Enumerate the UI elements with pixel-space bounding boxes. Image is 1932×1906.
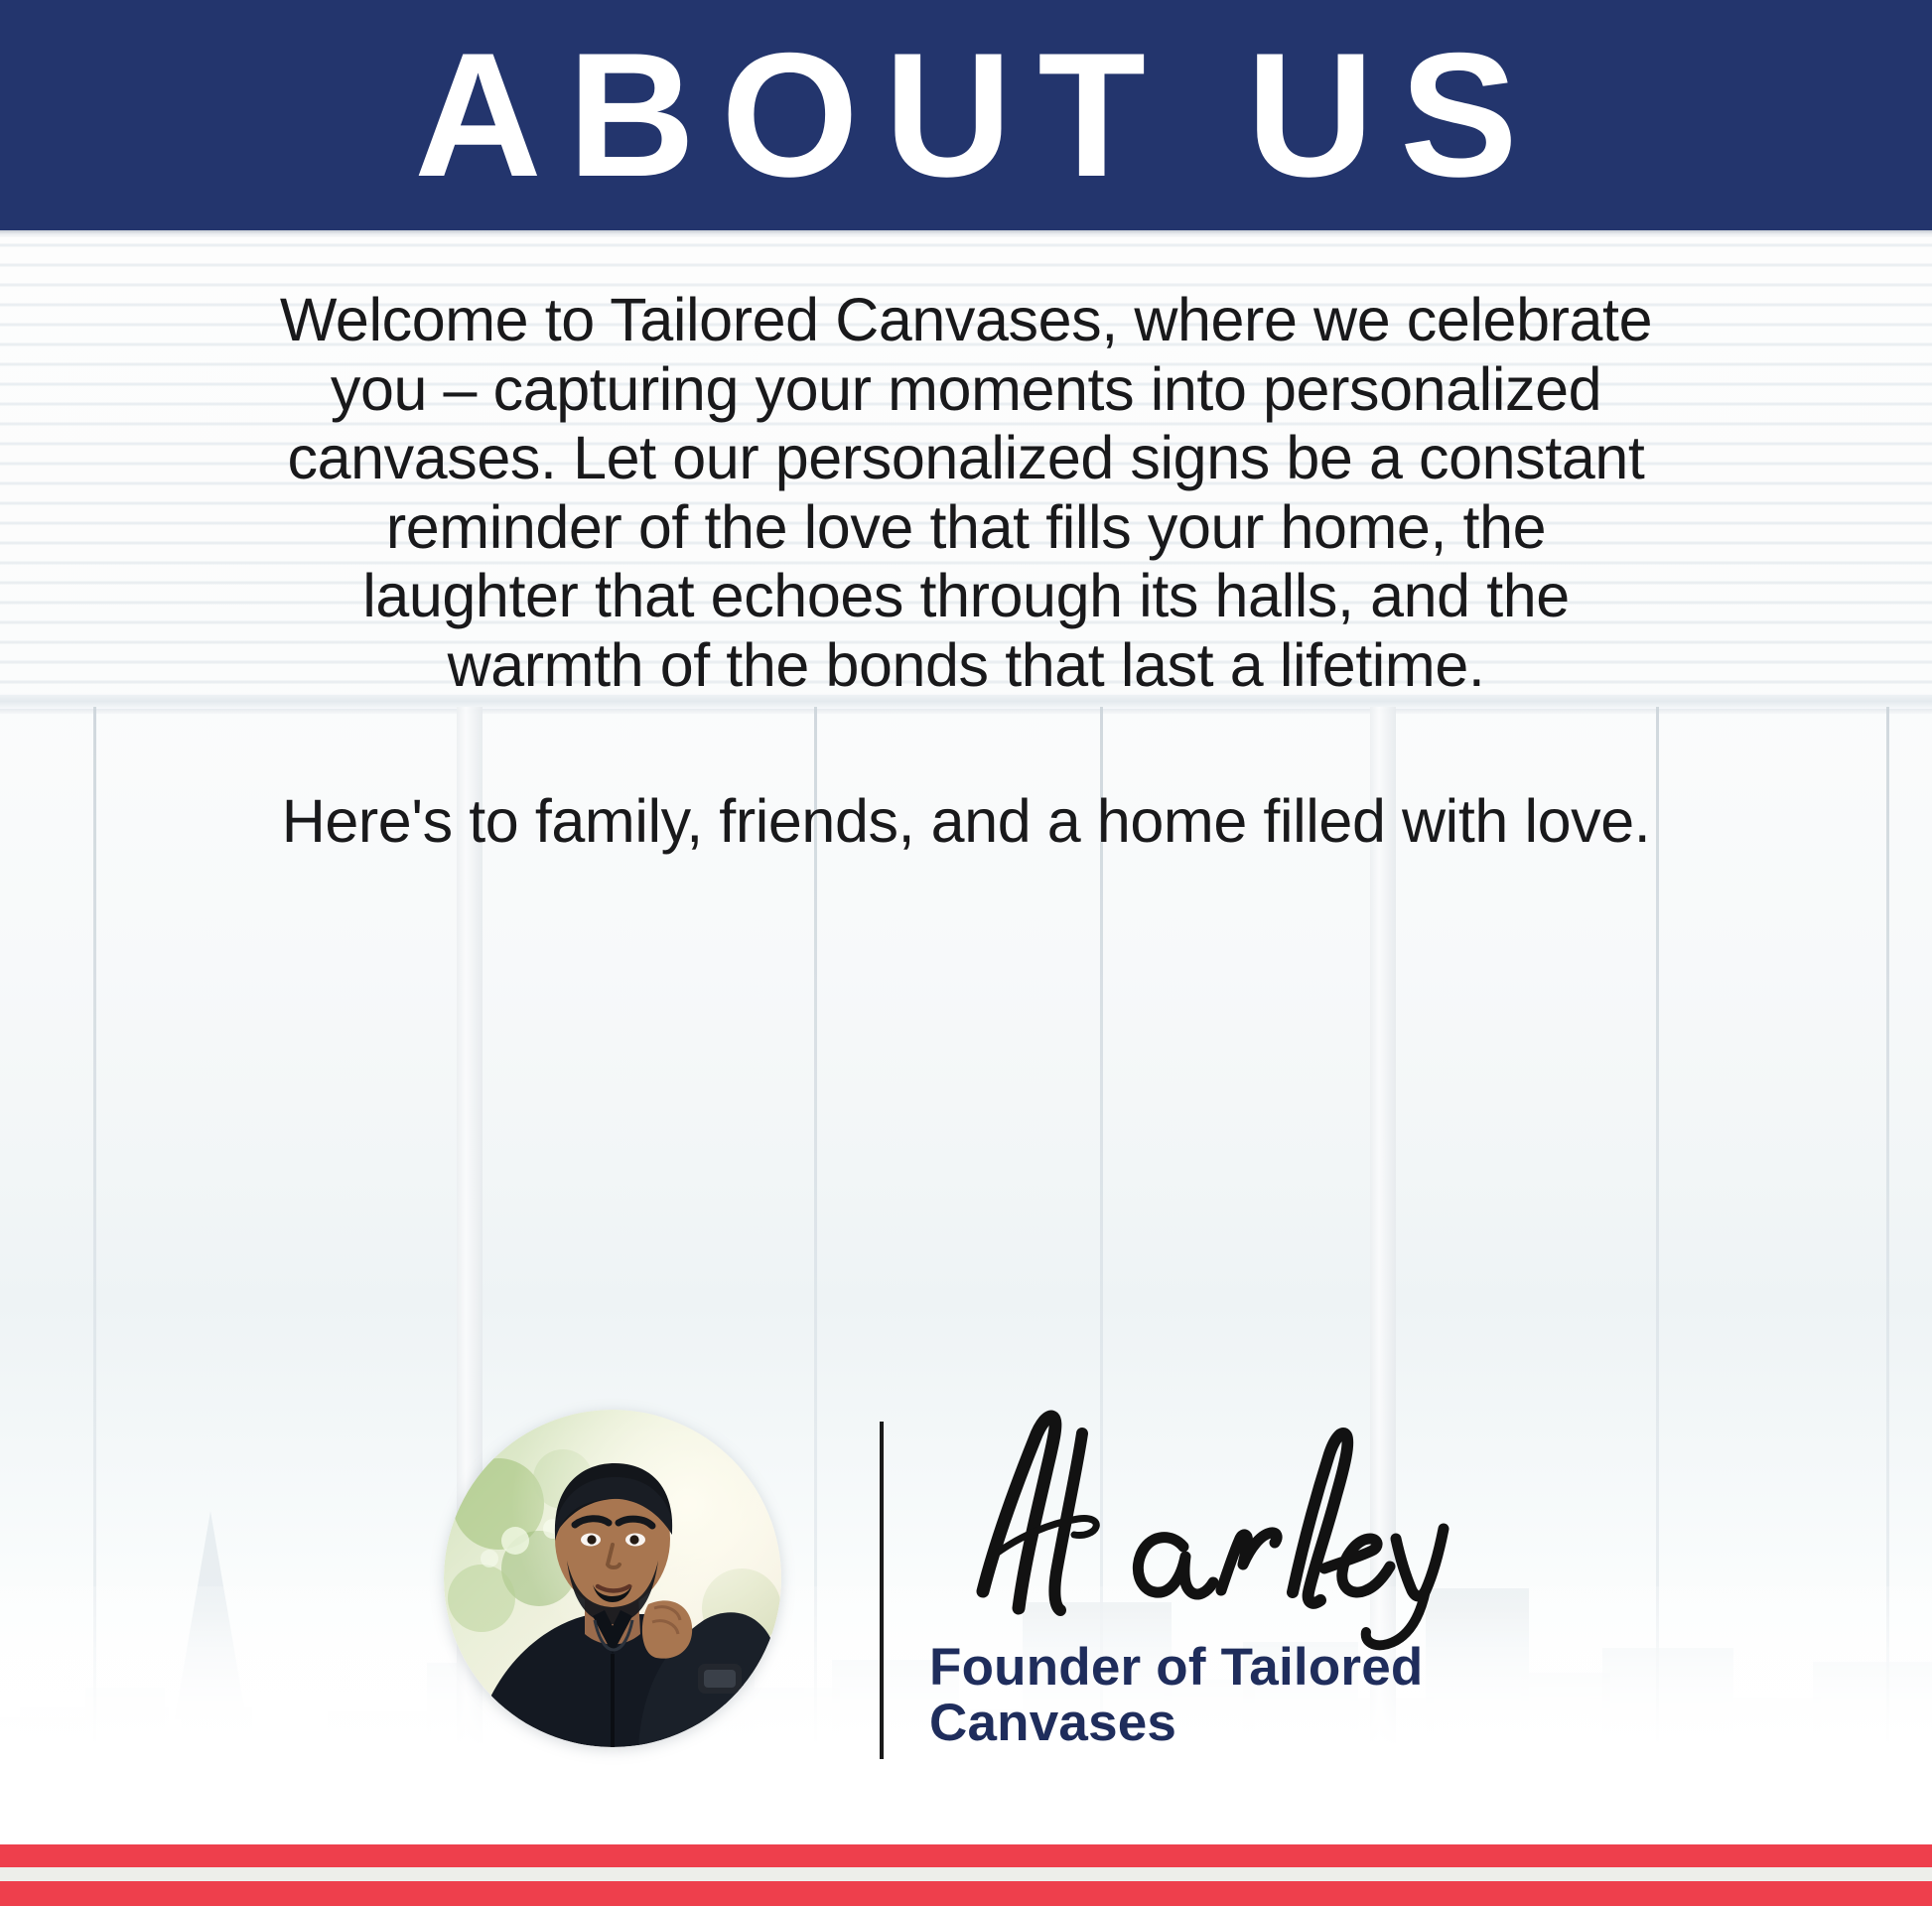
- about-us-poster: ABOUT US Welcome to Tailored Canvases, w…: [0, 0, 1932, 1906]
- page-title: ABOUT US: [414, 27, 1544, 204]
- footer-bar-bottom: [0, 1881, 1932, 1906]
- founder-role-line-1: Founder of Tailored: [929, 1640, 1624, 1696]
- about-paragraph-2: Here's to family, friends, and a home fi…: [271, 787, 1661, 857]
- avatar: [444, 1410, 781, 1747]
- footer-bar-gap: [0, 1867, 1932, 1881]
- footer-bar-top: [0, 1844, 1932, 1867]
- about-copy: Welcome to Tailored Canvases, where we c…: [271, 286, 1661, 857]
- header-banner: ABOUT US: [0, 0, 1932, 230]
- founder-role-line-2: Canvases: [929, 1696, 1624, 1751]
- signature-divider: [880, 1422, 884, 1759]
- about-paragraph-1: Welcome to Tailored Canvases, where we c…: [271, 286, 1661, 700]
- founder-role: Founder of Tailored Canvases: [929, 1640, 1624, 1751]
- paragraph-spacer: [271, 700, 1661, 787]
- header-underline: [0, 230, 1932, 237]
